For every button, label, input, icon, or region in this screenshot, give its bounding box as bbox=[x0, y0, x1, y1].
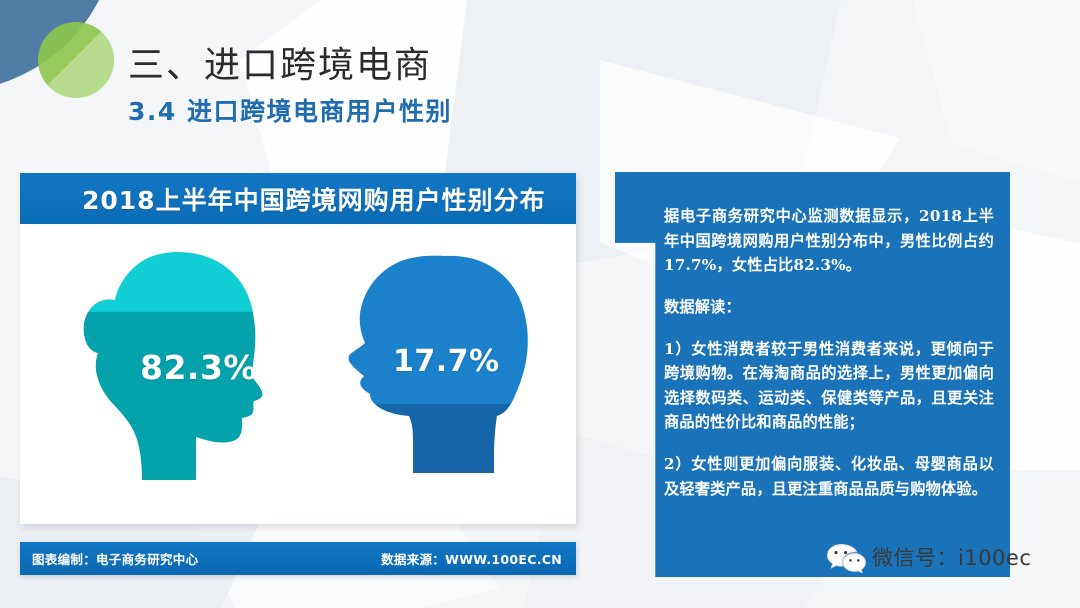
male-value-label: 17.7% bbox=[393, 344, 500, 379]
page-subtitle: 3.4 进口跨境电商用户性别 bbox=[128, 92, 452, 128]
female-value-label: 82.3% bbox=[140, 348, 257, 387]
infographic-credit-bar: 图表编制：电子商务研究中心 数据来源：WWW.100EC.CN bbox=[20, 542, 576, 575]
commentary-point-2: 2）女性则更加偏向服装、化妆品、母婴商品以及轻奢类产品，且更注重商品品质与购物体… bbox=[664, 452, 994, 501]
infographic-header: 2018上半年中国跨境网购用户性别分布 bbox=[20, 173, 576, 224]
infographic-title: 2018上半年中国跨境网购用户性别分布 bbox=[82, 181, 546, 217]
female-head-figure: 82.3% bbox=[82, 246, 296, 486]
page-title: 三、进口跨境电商 bbox=[128, 36, 432, 88]
commentary-intro: 据电子商务研究中心监测数据显示，2018上半年中国跨境网购用户性别分布中，男性比… bbox=[664, 204, 994, 278]
chart-producer-label: 图表编制：电子商务研究中心 bbox=[32, 549, 198, 568]
commentary-panel: 据电子商务研究中心监测数据显示，2018上半年中国跨境网购用户性别分布中，男性比… bbox=[615, 172, 1010, 577]
infographic-card: 2018上半年中国跨境网购用户性别分布 82.3% bbox=[20, 173, 576, 524]
corner-green-highlight bbox=[38, 22, 114, 98]
commentary-text: 据电子商务研究中心监测数据显示，2018上半年中国跨境网购用户性别分布中，男性比… bbox=[664, 204, 994, 501]
wechat-icon bbox=[826, 541, 866, 573]
wechat-label: 微信号：i100ec bbox=[872, 542, 1031, 572]
wechat-watermark: 微信号：i100ec bbox=[826, 541, 1031, 573]
male-head-figure: 17.7% bbox=[345, 252, 541, 477]
commentary-point-1: 1）女性消费者较于男性消费者来说，更倾向于跨境购物。在海淘商品的选择上，男性更加… bbox=[664, 337, 994, 436]
slide-canvas: 三、进口跨境电商 3.4 进口跨境电商用户性别 2018上半年中国跨境网购用户性… bbox=[0, 0, 1080, 608]
chart-source-label: 数据来源：WWW.100EC.CN bbox=[381, 549, 562, 568]
infographic-body: 82.3% 17.7% bbox=[20, 224, 576, 524]
commentary-section-title: 数据解读： bbox=[664, 295, 994, 320]
